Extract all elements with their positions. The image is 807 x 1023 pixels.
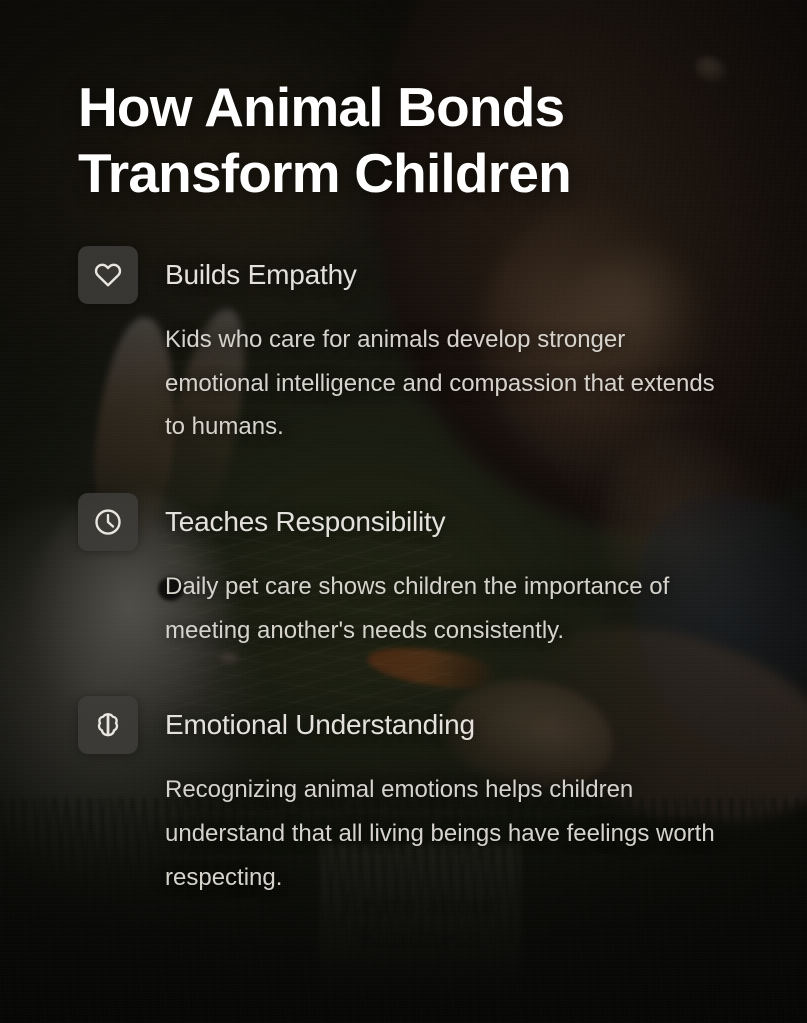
clock-icon (78, 493, 138, 551)
heart-icon (78, 246, 138, 304)
benefits-list: Builds Empathy Kids who care for animals… (78, 246, 747, 899)
benefit-title: Teaches Responsibility (165, 506, 445, 538)
benefit-title: Builds Empathy (165, 259, 357, 291)
list-item: Teaches Responsibility Daily pet care sh… (78, 493, 747, 652)
benefit-description: Recognizing animal emotions helps childr… (165, 768, 735, 899)
benefit-header: Emotional Understanding (78, 696, 747, 754)
benefit-description: Kids who care for animals develop strong… (165, 318, 735, 449)
page-title: How Animal Bonds Transform Children (78, 74, 698, 206)
list-item: Builds Empathy Kids who care for animals… (78, 246, 747, 449)
poster-root: Learn about Kindness How Animal Bonds Tr… (0, 0, 807, 1023)
benefit-title: Emotional Understanding (165, 709, 475, 741)
poster-content: How Animal Bonds Transform Children Buil… (0, 0, 807, 899)
benefit-header: Teaches Responsibility (78, 493, 747, 551)
benefit-description: Daily pet care shows children the import… (165, 565, 735, 652)
brain-icon (78, 696, 138, 754)
benefit-header: Builds Empathy (78, 246, 747, 304)
list-item: Emotional Understanding Recognizing anim… (78, 696, 747, 899)
